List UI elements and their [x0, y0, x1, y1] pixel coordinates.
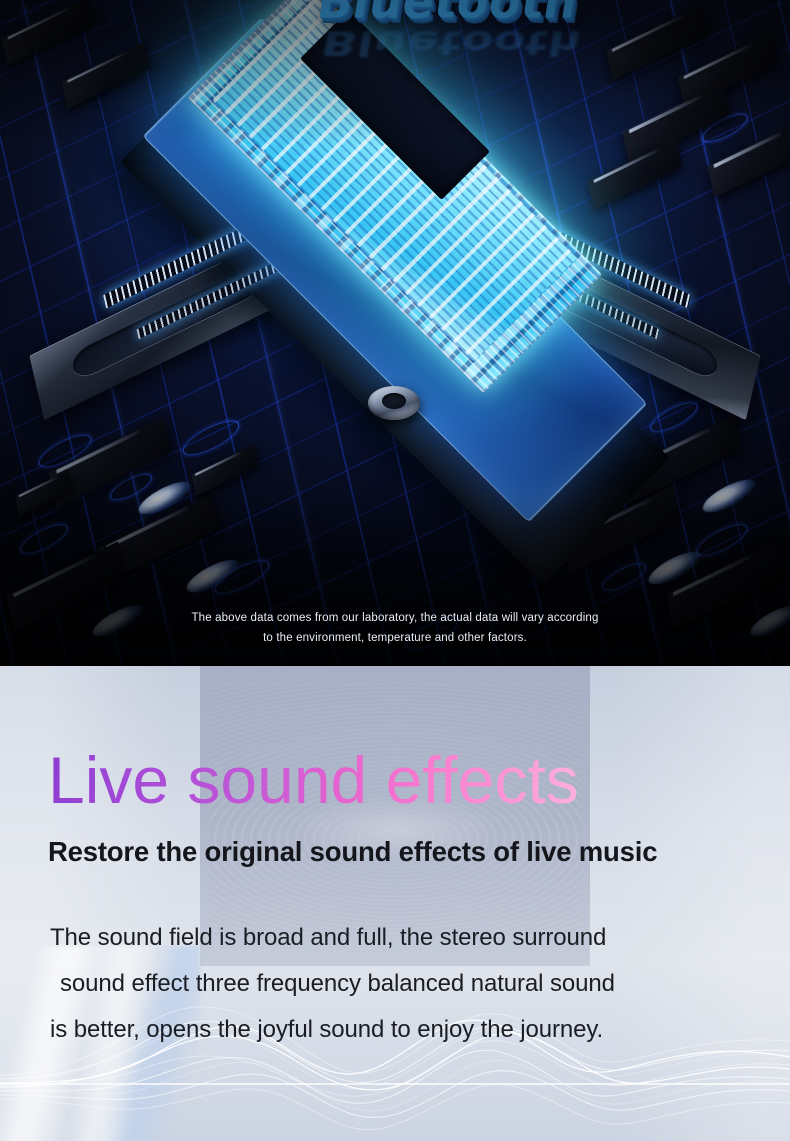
product-detail-page: Bluetooth Bluetooth The above data comes… [0, 0, 790, 1141]
page-subtitle: Restore the original sound effects of li… [48, 836, 657, 868]
body-line-2: sound effect three frequency balanced na… [50, 961, 750, 1007]
body-line-3: is better, opens the joyful sound to enj… [50, 1007, 750, 1053]
page-title: Live sound effects [48, 747, 579, 813]
processor-die [186, 36, 604, 336]
disclaimer-line-1: The above data comes from our laboratory… [0, 608, 790, 628]
disclaimer-line-2: to the environment, temperature and othe… [0, 628, 790, 648]
body-line-1: The sound field is broad and full, the s… [50, 915, 750, 961]
center-screw-boss [368, 386, 420, 420]
body-copy: The sound field is broad and full, the s… [50, 915, 750, 1053]
chip-hero-section: Bluetooth Bluetooth The above data comes… [0, 0, 790, 666]
bluetooth-logo-reflection: Bluetooth [319, 24, 584, 63]
bluetooth-logo: Bluetooth [314, 0, 582, 29]
live-sound-section [0, 666, 790, 1141]
disclaimer-text: The above data comes from our laboratory… [0, 608, 790, 648]
